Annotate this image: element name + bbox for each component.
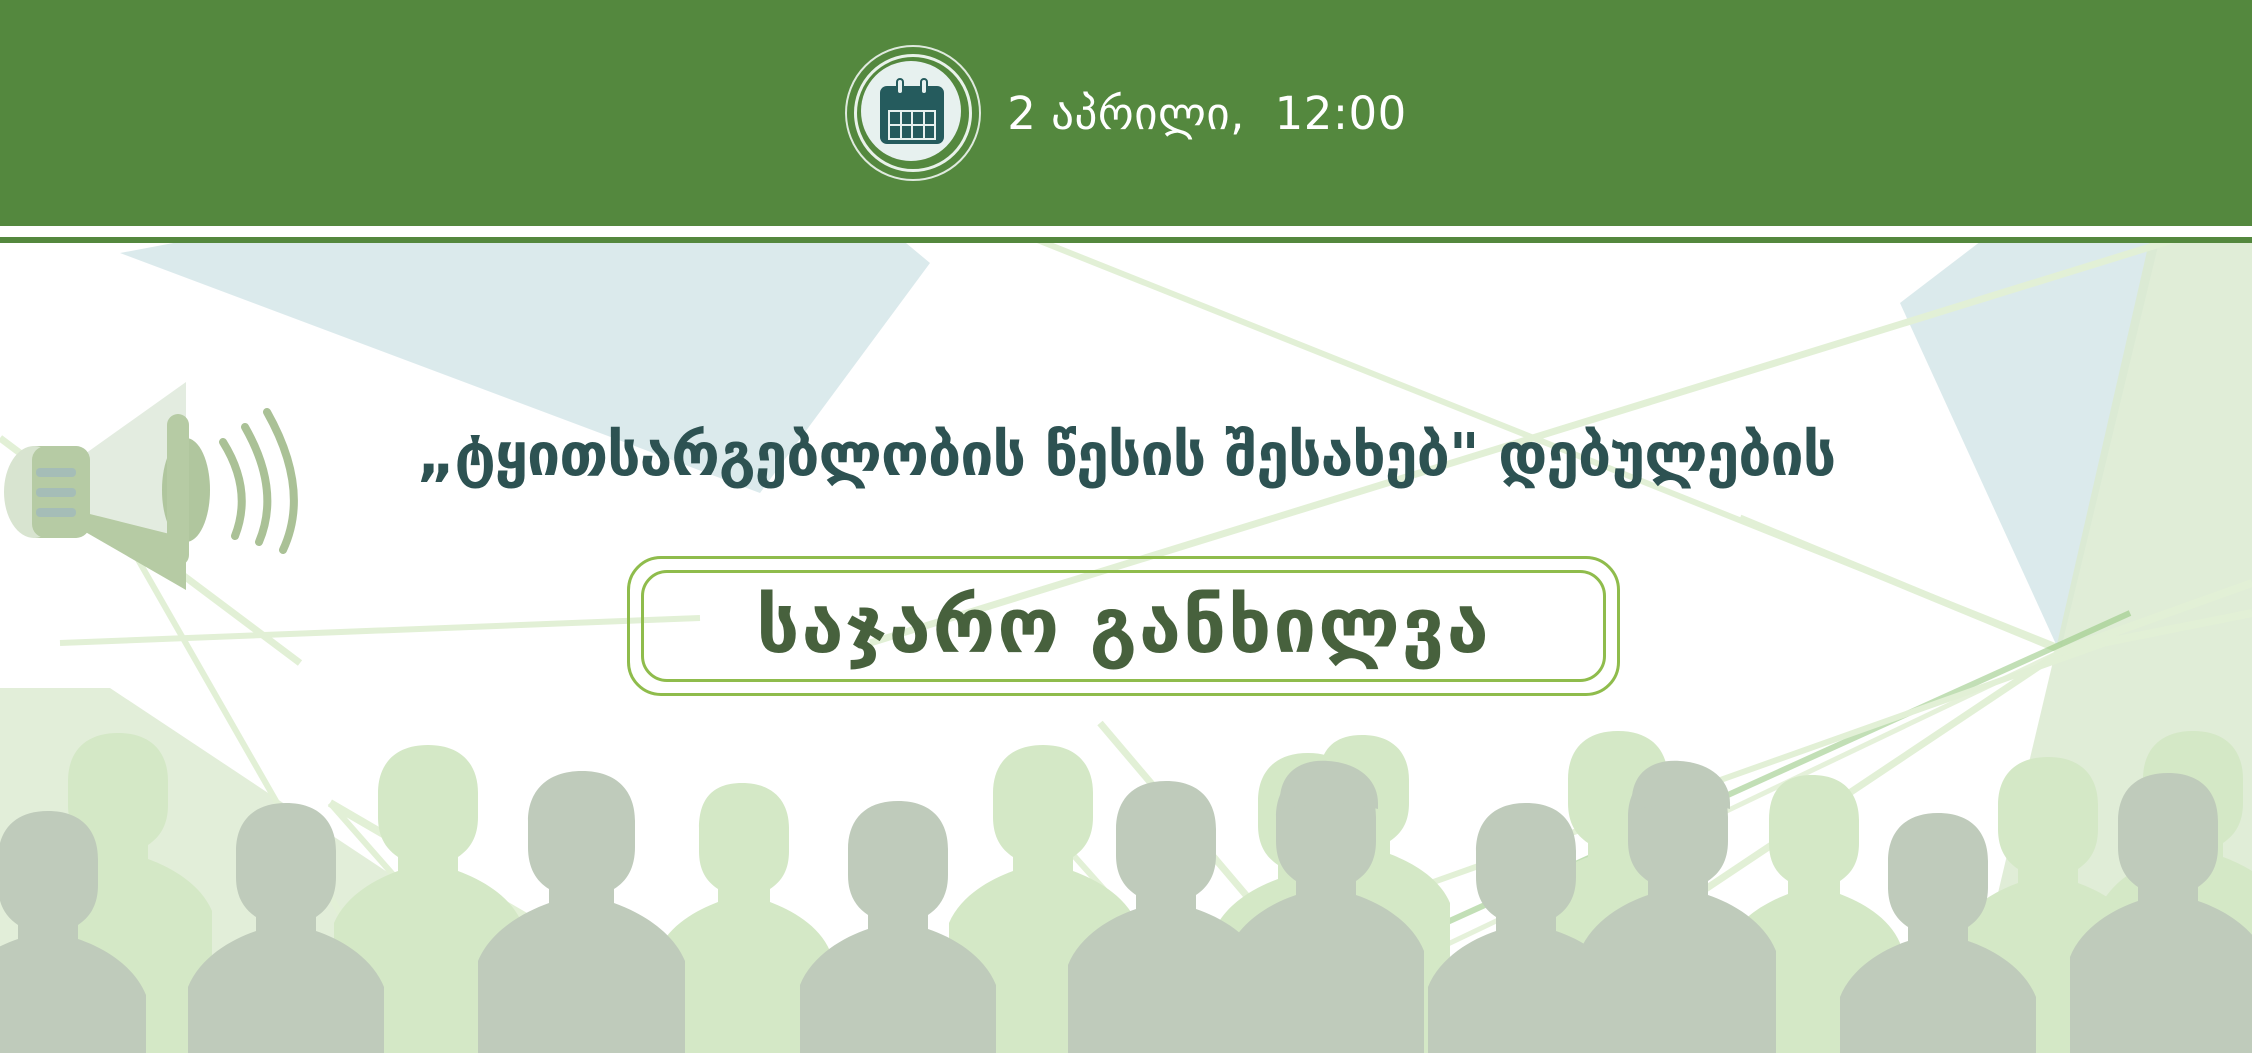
calendar-peg-right bbox=[920, 78, 928, 95]
calendar-grid bbox=[888, 110, 936, 140]
crowd-silhouettes bbox=[0, 723, 2252, 1053]
announcement-banner: „ტყითსარგებლობის წესის შესახებ" დებულები… bbox=[0, 0, 2252, 1053]
calendar-body bbox=[880, 86, 944, 144]
public-discussion-badge: საჯარო განხილვა bbox=[627, 556, 1620, 696]
page-title: „ტყითსარგებლობის წესის შესახებ" დებულები… bbox=[0, 424, 2252, 486]
public-discussion-label: საჯარო განხილვა bbox=[756, 588, 1490, 664]
calendar-cell bbox=[925, 112, 935, 124]
calendar-cell bbox=[890, 112, 900, 124]
calendar-cell bbox=[902, 112, 912, 124]
megaphone-icon bbox=[4, 370, 334, 620]
event-datetime: 2 აპრილი, 12:00 bbox=[1007, 91, 1407, 136]
calendar-peg-left bbox=[896, 78, 904, 95]
calendar-icon bbox=[845, 45, 981, 181]
calendar-cell bbox=[890, 126, 900, 138]
calendar-glyph bbox=[880, 78, 944, 144]
header-content: 2 აპრილი, 12:00 bbox=[0, 0, 2252, 226]
public-discussion-badge-inner: საჯარო განხილვა bbox=[641, 570, 1606, 682]
header-bar: 2 აპრილი, 12:00 bbox=[0, 0, 2252, 226]
calendar-cell bbox=[902, 126, 912, 138]
calendar-cell bbox=[913, 126, 923, 138]
calendar-cell bbox=[913, 112, 923, 124]
header-divider-rule bbox=[0, 237, 2252, 243]
calendar-cell bbox=[925, 126, 935, 138]
